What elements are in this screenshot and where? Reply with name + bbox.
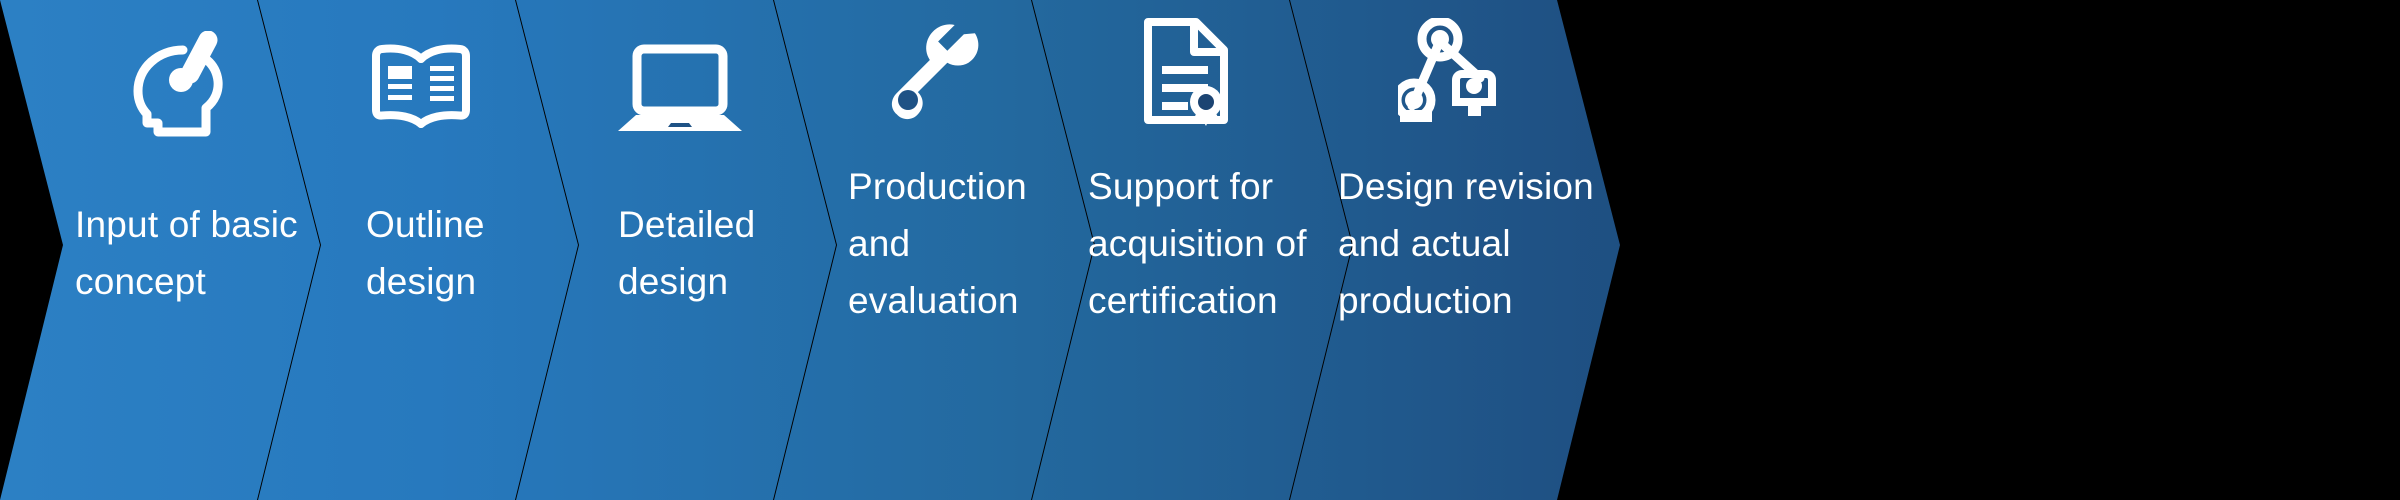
process-flow-banner: Input of basic concept Outline des [0,0,2400,500]
chevron-step-1[interactable] [0,0,320,500]
